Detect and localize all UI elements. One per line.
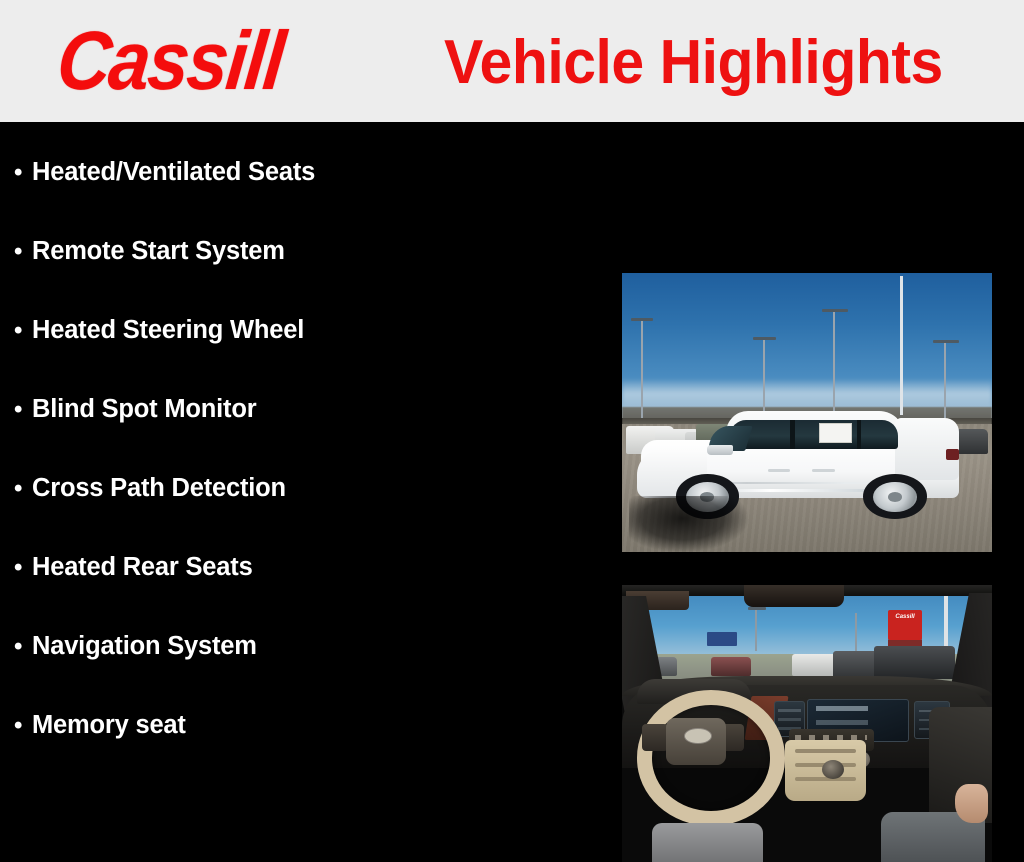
window-sticker xyxy=(819,423,853,443)
rearview-mirror xyxy=(744,585,844,607)
list-item: • Heated Rear Seats xyxy=(14,553,253,582)
list-item: • Remote Start System xyxy=(14,237,285,266)
van-side-windows xyxy=(730,420,899,449)
light-pole xyxy=(855,613,857,655)
vehicle-highlights-slide: Cassill Vehicle Highlights • Heated/Vent… xyxy=(0,0,1024,768)
slide-header: Cassill Vehicle Highlights xyxy=(0,0,1024,122)
vehicle-exterior-photo xyxy=(622,273,992,552)
blue-lot-sign xyxy=(707,632,737,646)
features-list: • Heated/Ventilated Seats • Remote Start… xyxy=(0,122,600,768)
door-handle xyxy=(812,469,834,472)
feature-label: Heated Steering Wheel xyxy=(32,316,304,345)
light-pole-head xyxy=(753,337,775,340)
light-pole-head xyxy=(748,607,767,610)
light-pole xyxy=(833,309,835,415)
wheel-hub xyxy=(888,492,902,502)
bullet-icon: • xyxy=(14,319,32,343)
light-pole-head xyxy=(822,309,848,312)
bullet-icon: • xyxy=(14,556,32,580)
tall-pole xyxy=(900,276,903,416)
cassill-sign-text: Cassill xyxy=(888,614,921,620)
list-item: • Memory seat xyxy=(14,711,186,740)
list-item: • Navigation System xyxy=(14,632,257,661)
light-pole xyxy=(755,607,757,651)
bullet-icon: • xyxy=(14,635,32,659)
list-item: • Cross Path Detection xyxy=(14,474,286,503)
feature-label: Cross Path Detection xyxy=(32,474,286,503)
driver-seat xyxy=(652,823,763,862)
rear-wheel xyxy=(863,474,927,519)
photographer-shadow xyxy=(629,496,747,552)
hand xyxy=(955,784,988,823)
bullet-icon: • xyxy=(14,240,32,264)
bullet-icon: • xyxy=(14,161,32,185)
feature-label: Memory seat xyxy=(32,711,186,740)
cassill-logo-text: Cassill xyxy=(54,20,287,103)
rotary-shifter[interactable] xyxy=(822,760,844,779)
chrysler-wing-badge-icon xyxy=(685,729,711,743)
bullet-icon: • xyxy=(14,714,32,738)
lot-vehicle xyxy=(711,657,752,676)
cassill-dealership-sign: Cassill xyxy=(888,610,921,640)
bullet-icon: • xyxy=(14,477,32,501)
bullet-icon: • xyxy=(14,398,32,422)
light-pole xyxy=(641,318,643,418)
slide-body: • Heated/Ventilated Seats • Remote Start… xyxy=(0,122,1024,768)
feature-label: Blind Spot Monitor xyxy=(32,395,256,424)
light-pole-head xyxy=(631,318,653,321)
light-pole-head xyxy=(933,340,959,343)
feature-label: Heated Rear Seats xyxy=(32,553,253,582)
van-c-pillar xyxy=(857,420,861,449)
page-title: Vehicle Highlights xyxy=(444,30,943,97)
list-item: • Blind Spot Monitor xyxy=(14,395,256,424)
list-item: • Heated/Ventilated Seats xyxy=(14,158,315,187)
feature-label: Heated/Ventilated Seats xyxy=(32,158,315,187)
list-item: • Heated Steering Wheel xyxy=(14,316,304,345)
van-b-pillar xyxy=(790,420,795,449)
vehicle-interior-photo: Cassill xyxy=(622,585,992,862)
feature-label: Navigation System xyxy=(32,632,257,661)
lot-suv xyxy=(874,646,955,679)
feature-label: Remote Start System xyxy=(32,237,285,266)
van-taillight xyxy=(946,449,959,460)
steering-wheel-buttons-left[interactable] xyxy=(642,724,668,752)
side-mirror xyxy=(707,445,732,455)
cassill-logo: Cassill xyxy=(58,25,348,97)
door-handle xyxy=(768,469,790,472)
